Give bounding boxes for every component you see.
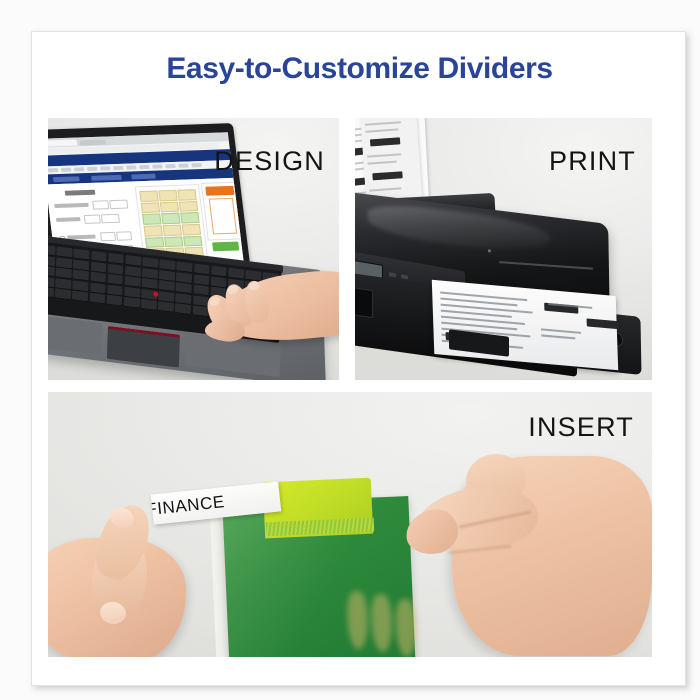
form-heading xyxy=(65,190,96,196)
template-thumbnail xyxy=(201,182,244,241)
hand-typing xyxy=(180,265,339,371)
scanner-seam xyxy=(499,261,593,270)
scanner-indicator-dot xyxy=(488,250,491,253)
panel-design: DESIGN xyxy=(48,118,339,380)
apply-button-preview xyxy=(212,242,239,252)
panel-label-insert: INSERT xyxy=(528,412,634,443)
palm-rest-left xyxy=(48,314,102,355)
printed-label-block xyxy=(587,318,619,329)
product-image-card: Easy-to-Customize Dividers xyxy=(31,31,686,686)
panel-print: PRINT xyxy=(355,118,652,380)
panel-insert: FINANCE xyxy=(48,392,652,657)
hand-holding-divider xyxy=(400,452,650,657)
rear-paper-sheet xyxy=(360,118,422,202)
hand-holding-label xyxy=(48,486,234,657)
browser-tab-active xyxy=(48,139,77,146)
laptop-touchpad xyxy=(107,326,180,368)
page-title: Easy-to-Customize Dividers xyxy=(32,52,686,86)
memory-card-slot xyxy=(355,287,373,318)
browser-tab-inactive xyxy=(80,139,107,145)
panel-label-print: PRINT xyxy=(549,146,636,177)
screenshot-stage: Easy-to-Customize Dividers xyxy=(0,0,700,700)
panel-label-design: DESIGN xyxy=(214,146,325,177)
trackpoint-icon xyxy=(153,291,158,297)
scanner-gloss-highlight xyxy=(367,200,551,258)
